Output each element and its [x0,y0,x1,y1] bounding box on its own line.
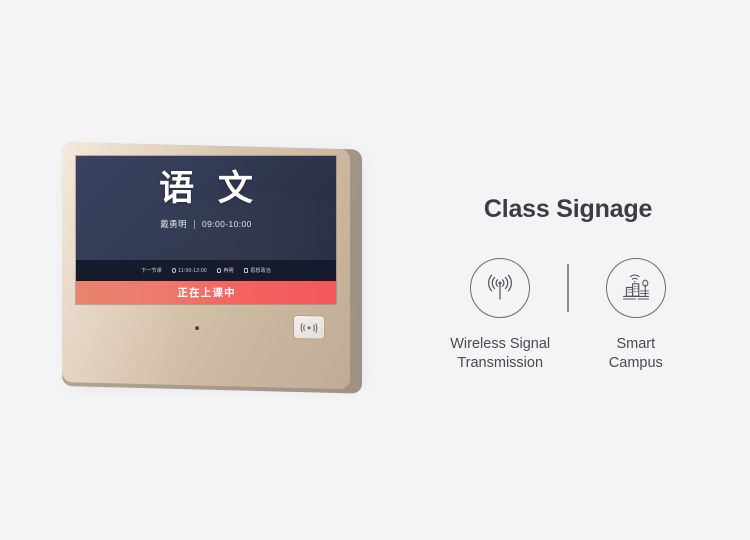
light-sensor-icon [195,326,199,330]
wireless-antenna-icon [470,258,530,318]
next-class-time-chip: 11:00-12:00 [172,268,207,274]
next-class-info-bar: 下一节课 11:00-12:00 冉明 思想政治 [76,260,336,281]
current-teacher-name: 戴勇明 [160,218,187,230]
info-panel: Class Signage [418,196,718,373]
feature-label: Wireless Signal Transmission [450,335,550,373]
device-screen[interactable]: 语 文 戴勇明 09:00-10:00 下一节课 11:00-12:00 [76,156,336,304]
current-class-time: 09:00-10:00 [202,219,252,229]
next-class-label: 下一节课 [141,267,162,274]
class-signage-device: 语 文 戴勇明 09:00-10:00 下一节课 11:00-12:00 [62,142,362,388]
next-class-subject-chip: 思想政治 [244,267,271,274]
nfc-card-reader-icon[interactable] [294,316,324,339]
current-class-meta: 戴勇明 09:00-10:00 [76,218,336,230]
smart-campus-buildings-icon [606,258,666,318]
feature-list: Wireless Signal Transmission [418,258,718,373]
current-subject-title: 语 文 [76,171,336,206]
next-class-teacher-chip: 冉明 [217,267,234,274]
next-class-time: 11:00-12:00 [178,268,207,274]
next-class-teacher: 冉明 [223,267,233,274]
next-class-label-chip: 下一节课 [141,267,162,274]
feature-wireless-signal-transmission: Wireless Signal Transmission [433,258,567,373]
person-icon [217,268,222,273]
book-icon [244,268,249,273]
page-title: Class Signage [418,196,718,224]
next-class-subject: 思想政治 [250,267,271,274]
scene: 语 文 戴勇明 09:00-10:00 下一节课 11:00-12:00 [0,0,750,540]
feature-label: Smart Campus [609,335,663,373]
status-banner: 正在上课中 [76,281,336,304]
clock-icon [172,268,177,273]
feature-smart-campus: Smart Campus [569,258,703,373]
screen-main-panel: 语 文 戴勇明 09:00-10:00 [76,156,336,260]
meta-separator [194,220,195,229]
